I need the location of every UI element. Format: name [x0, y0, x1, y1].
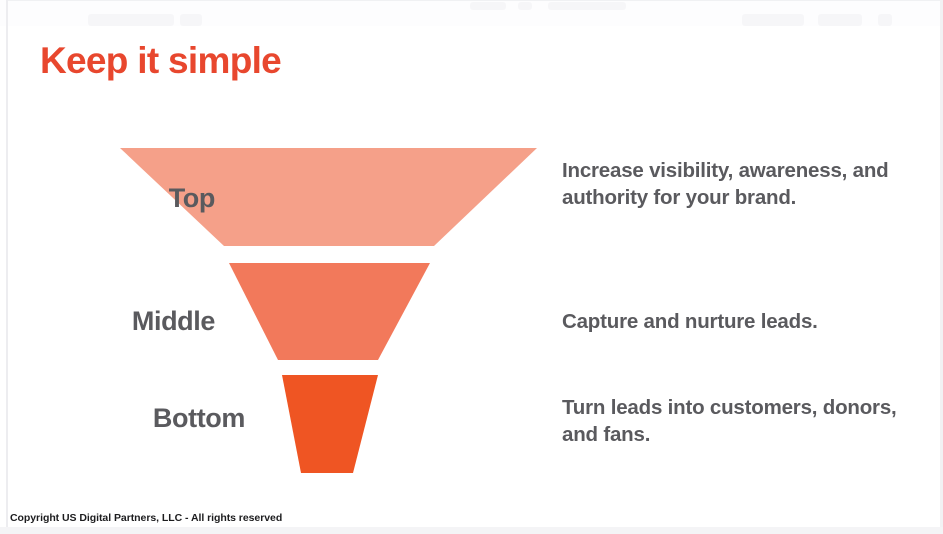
- funnel-label-top: Top: [0, 185, 215, 212]
- chrome-ghost-block: [88, 14, 174, 26]
- chrome-hairline: [8, 0, 943, 1]
- chrome-ghost-block: [742, 14, 804, 26]
- chrome-ghost-block: [548, 2, 626, 10]
- funnel-segment-bottom: [282, 375, 378, 473]
- funnel-description-bottom: Turn leads into customers, donors, and f…: [562, 394, 934, 448]
- funnel-description-top: Increase visibility, awareness, and auth…: [562, 157, 934, 211]
- funnel-description-middle: Capture and nurture leads.: [562, 308, 934, 335]
- footer-copyright: Copyright US Digital Partners, LLC - All…: [10, 512, 282, 524]
- chrome-ghost-block: [878, 14, 892, 26]
- top-chrome-strip: [0, 0, 943, 26]
- chrome-ghost-block: [470, 2, 506, 10]
- funnel-segment-middle: [229, 263, 430, 360]
- slide-canvas: Keep it simple Top Middle Bottom Increas…: [0, 0, 943, 534]
- chrome-ghost-block: [180, 14, 202, 26]
- chrome-ghost-block: [818, 14, 862, 26]
- page-title: Keep it simple: [40, 42, 281, 81]
- slide-bottom-border: [0, 527, 943, 534]
- slide-left-border: [6, 0, 8, 534]
- chrome-ghost-block: [518, 2, 532, 10]
- funnel-label-middle: Middle: [0, 308, 215, 335]
- funnel-label-bottom: Bottom: [0, 405, 245, 432]
